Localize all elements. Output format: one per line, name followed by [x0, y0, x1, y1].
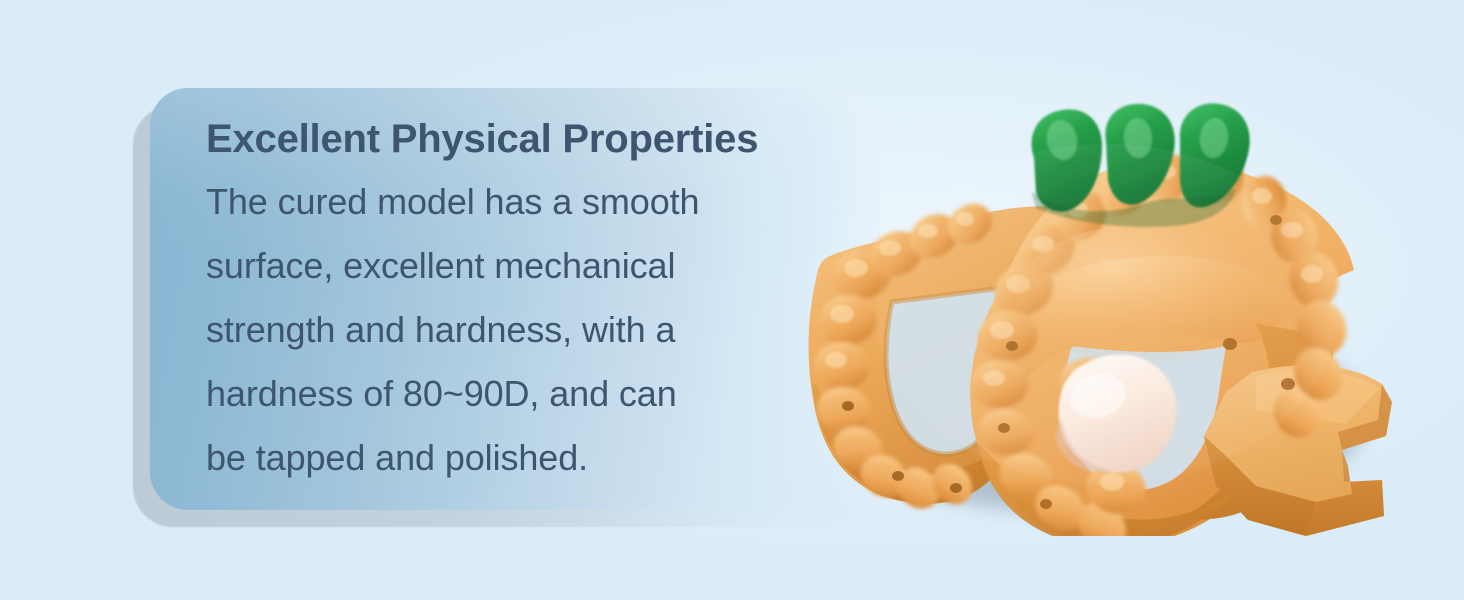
description-line: strength and hardness, with a — [206, 298, 806, 362]
description-line: The cured model has a smooth — [206, 170, 806, 234]
description-line: hardness of 80~90D, and can — [206, 362, 806, 426]
dental-model-image — [786, 84, 1398, 536]
product-feature-banner: Excellent Physical Properties The cured … — [0, 0, 1464, 600]
card-text-block: Excellent Physical Properties The cured … — [206, 114, 806, 490]
description-line: surface, excellent mechanical — [206, 234, 806, 298]
dental-model-svg — [786, 84, 1398, 536]
feature-description: The cured model has a smooth surface, ex… — [206, 170, 806, 490]
page-title: Excellent Physical Properties — [206, 114, 806, 164]
description-line: be tapped and polished. — [206, 426, 806, 490]
